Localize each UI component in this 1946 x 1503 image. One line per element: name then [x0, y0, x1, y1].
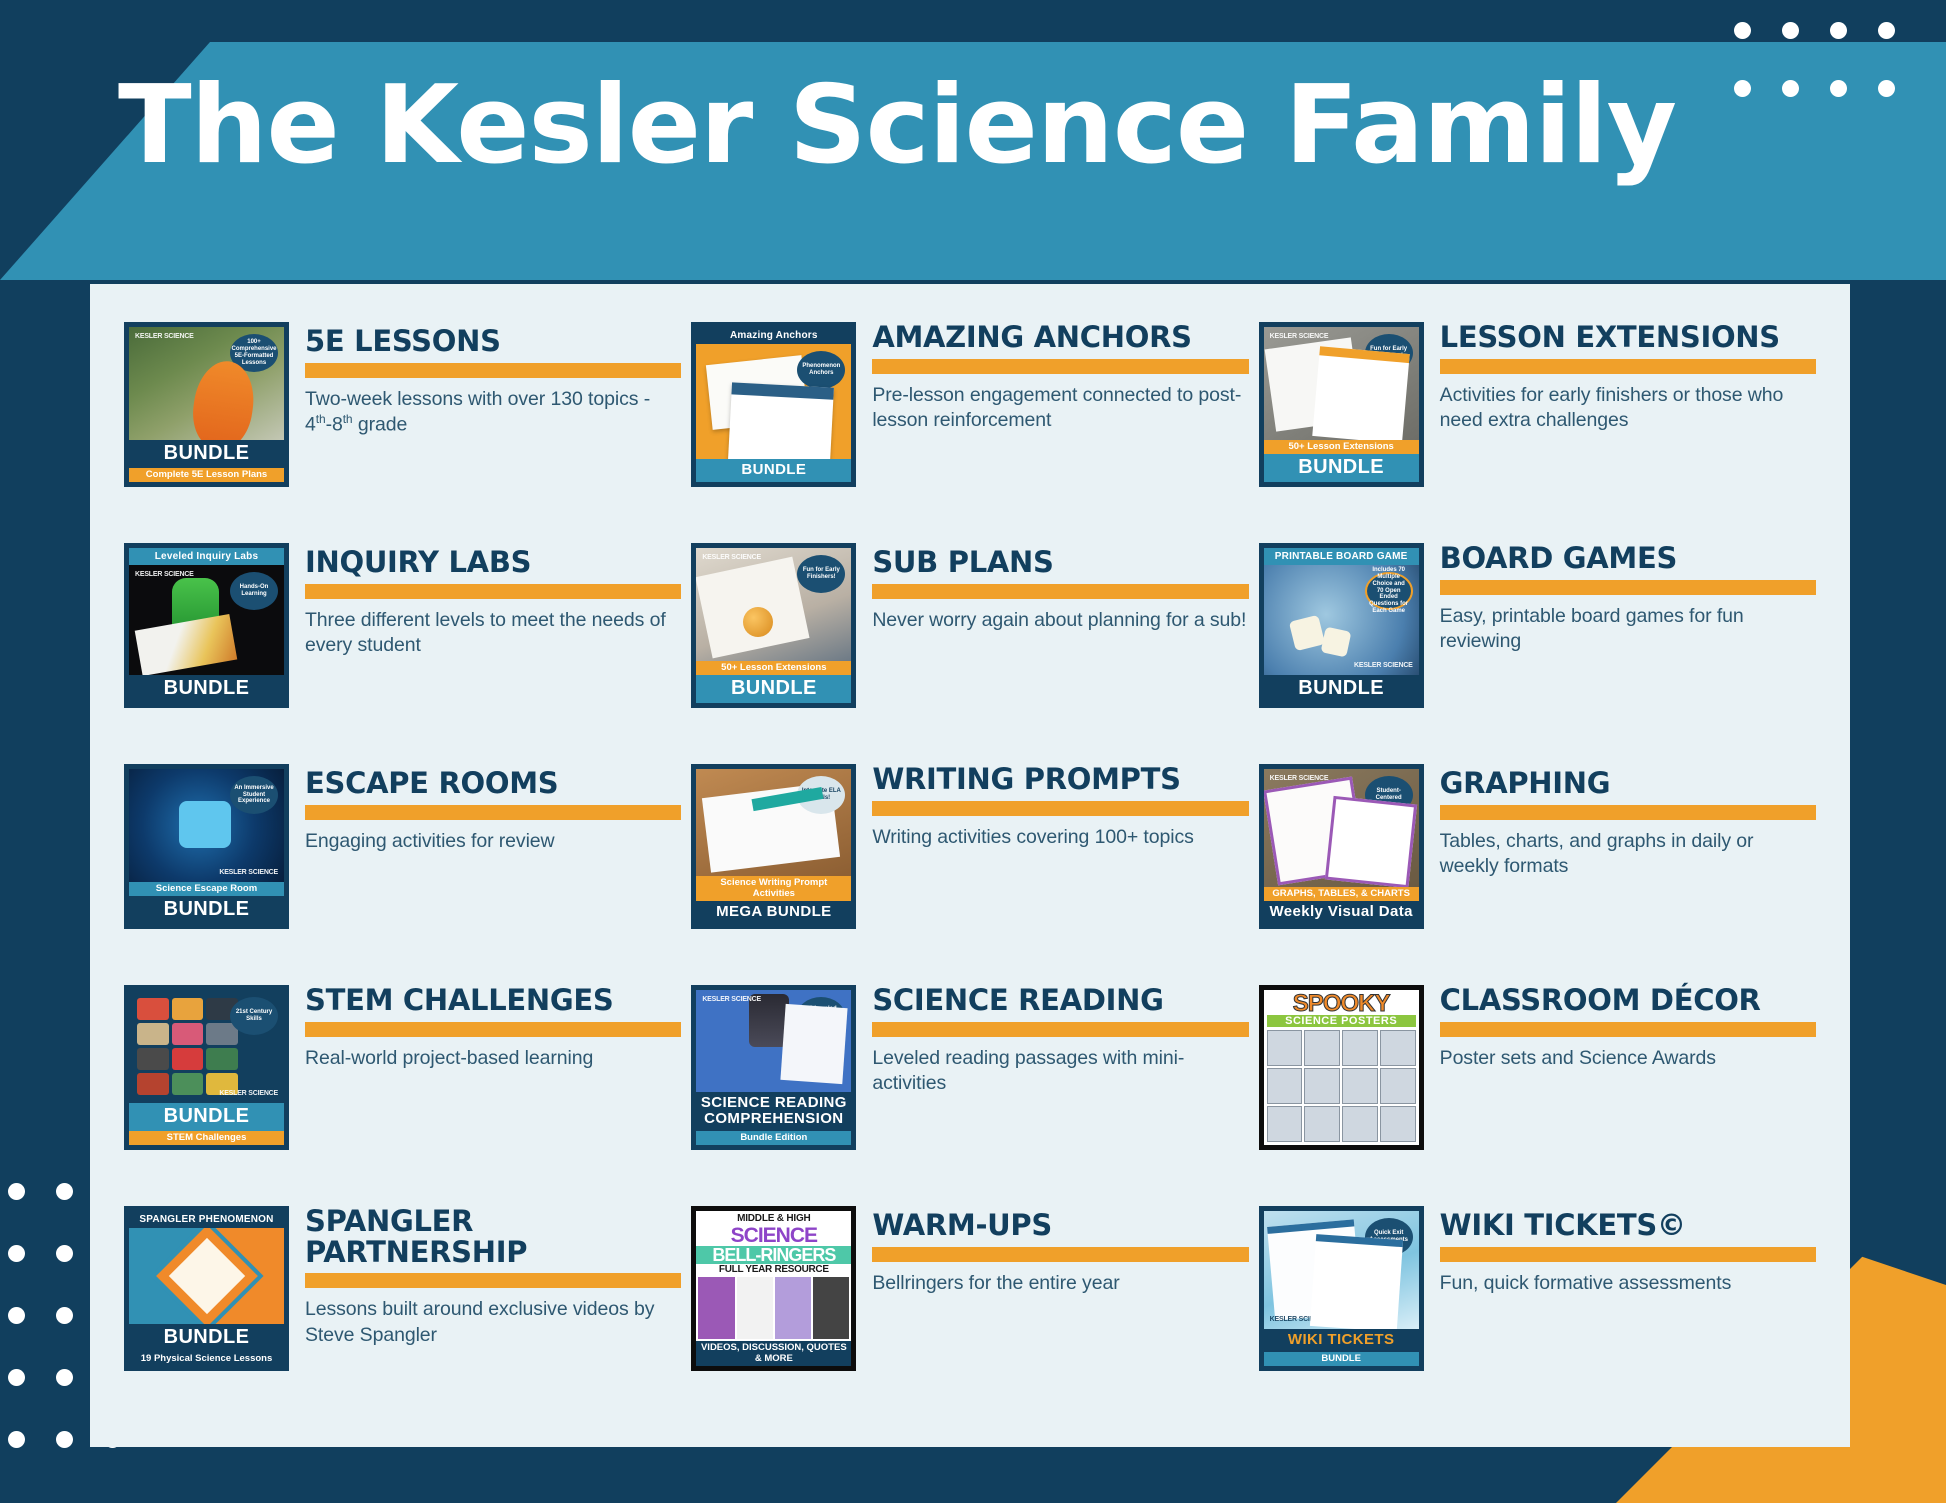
- product-text: SUB PLANS Never worry again about planni…: [872, 543, 1248, 633]
- content-panel: KESLER SCIENCE 100+ Comprehensive 5E-For…: [90, 284, 1850, 1447]
- thumbnail-toptag: Leveled Inquiry Labs: [129, 548, 284, 565]
- product-heading: WARM-UPS: [872, 1210, 1248, 1241]
- product-thumbnail-sub-plans: KESLER SCIENCE Fun for Early Finishers! …: [691, 543, 856, 708]
- poster-cell: [1267, 1068, 1303, 1104]
- product-item-amazing-anchors[interactable]: Amazing Anchors Phenomenon Anchors BUNDL…: [691, 312, 1248, 533]
- orange-rule: [872, 584, 1248, 599]
- poster-cell: [1380, 1030, 1416, 1066]
- product-thumbnail-escape-rooms: An Immersive Student Experience KESLER S…: [124, 764, 289, 929]
- product-item-stem-challenges[interactable]: 21st Century Skills KESLER SCIENCE BUNDL…: [124, 975, 681, 1196]
- product-item-sub-plans[interactable]: KESLER SCIENCE Fun for Early Finishers! …: [691, 533, 1248, 754]
- thumbnail-badge: An Immersive Student Experience: [230, 776, 278, 814]
- thumbnail-art: KESLER SCIENCE Hands-On Learning: [129, 565, 284, 675]
- product-heading: WRITING PROMPTS: [872, 764, 1248, 795]
- product-heading: WIKI TICKETS©: [1440, 1210, 1816, 1241]
- thumbnail-art: KESLER SCIENCE Fun for Early Finishers!: [696, 548, 851, 661]
- poster-thumbnail-grid: [1267, 1027, 1416, 1142]
- product-text: SCIENCE READING Leveled reading passages…: [872, 985, 1248, 1096]
- orange-rule: [1440, 580, 1816, 595]
- product-thumbnail-spangler: SPANGLER PHENOMENON BUNDLE 19 Physical S…: [124, 1206, 289, 1371]
- product-description: Writing activities covering 100+ topics: [872, 825, 1248, 850]
- product-description: Never worry again about planning for a s…: [872, 608, 1248, 633]
- product-thumbnail-board-games: PRINTABLE BOARD GAME Includes 70 Multipl…: [1259, 543, 1424, 708]
- thumbnail-art: KESLER SCIENCE 40 Leveled Articles and P…: [696, 990, 851, 1092]
- orange-rule: [1440, 1022, 1816, 1037]
- thumbnail-art: Integrate ELA Skills!: [696, 769, 851, 876]
- product-thumbnail-stem-challenges: 21st Century Skills KESLER SCIENCE BUNDL…: [124, 985, 289, 1150]
- product-heading: SPANGLER PARTNERSHIP: [305, 1206, 681, 1267]
- thumbnail-bundle-label: MEGA BUNDLE: [696, 901, 851, 924]
- product-text: INQUIRY LABS Three different levels to m…: [305, 543, 681, 658]
- thumbnail-subtag: Science Escape Room: [129, 882, 284, 896]
- product-description: Fun, quick formative assessments: [1440, 1271, 1816, 1296]
- thumbnail-art: Includes 70 Multiple Choice and 70 Open …: [1264, 565, 1419, 675]
- product-text: AMAZING ANCHORS Pre-lesson engagement co…: [872, 322, 1248, 433]
- page-title: The Kesler Science Family: [118, 72, 1676, 180]
- thumbnail-badge: 100+ Comprehensive 5E-Formatted Lessons: [230, 334, 278, 372]
- poster-cell: [1267, 1030, 1303, 1066]
- kesler-logo-icon: KESLER SCIENCE: [1270, 333, 1329, 340]
- product-thumbnail-inquiry-labs: Leveled Inquiry Labs KESLER SCIENCE Hand…: [124, 543, 289, 708]
- thumbnail-badge: 21st Century Skills: [230, 997, 278, 1035]
- stem-icon: [137, 998, 169, 1020]
- product-item-escape-rooms[interactable]: An Immersive Student Experience KESLER S…: [124, 754, 681, 975]
- thumbnail-art: [129, 1228, 284, 1324]
- stem-icon: [172, 1073, 204, 1095]
- poster-cell: [1304, 1030, 1340, 1066]
- product-description: Pre-lesson engagement connected to post-…: [872, 383, 1248, 434]
- product-description: Poster sets and Science Awards: [1440, 1046, 1816, 1071]
- thumbnail-bundle-label: WIKI TICKETS: [1264, 1329, 1419, 1352]
- orange-rule: [305, 1022, 681, 1037]
- product-description: Two-week lessons with over 130 topics - …: [305, 387, 681, 438]
- thumbnail-bundle-label: BUNDLE: [129, 1324, 284, 1352]
- product-item-wiki-tickets[interactable]: Quick Exit Assessments KESLER SCIENCE WI…: [1259, 1196, 1816, 1417]
- thumbnail-subtag: Complete 5E Lesson Plans: [129, 468, 284, 482]
- orange-rule: [1440, 359, 1816, 374]
- kesler-logo-icon: KESLER SCIENCE: [1270, 775, 1329, 782]
- thumbnail-badge: Fun for Early Finishers!: [1365, 334, 1413, 372]
- product-description: Engaging activities for review: [305, 829, 681, 854]
- poster-cell: [1267, 1106, 1303, 1142]
- poster-cell: [1342, 1068, 1378, 1104]
- thumbnail-badge: Student-Centered: [1365, 776, 1413, 814]
- thumbnail-art: Quick Exit Assessments KESLER SCIENCE: [1264, 1211, 1419, 1329]
- thumbnail-art: KESLER SCIENCE Student-Centered: [1264, 769, 1419, 887]
- product-thumbnail-wiki-tickets: Quick Exit Assessments KESLER SCIENCE WI…: [1259, 1206, 1424, 1371]
- thumbnail-subtag: 50+ Lesson Extensions: [1264, 440, 1419, 454]
- thumbnail-bundle-label: BUNDLE: [1264, 675, 1419, 703]
- product-item-classroom-decor[interactable]: SPOOKY SCIENCE POSTERS CLASSROOM: [1259, 975, 1816, 1196]
- desc-sup-2: th: [343, 412, 353, 426]
- thumbnail-art: An Immersive Student Experience KESLER S…: [129, 769, 284, 882]
- product-thumbnail-graphing: KESLER SCIENCE Student-Centered GRAPHS, …: [1259, 764, 1424, 929]
- thumbnail-toptag: Amazing Anchors: [696, 327, 851, 344]
- product-thumbnail-classroom-decor: SPOOKY SCIENCE POSTERS: [1259, 985, 1424, 1150]
- desc-sup-1: th: [316, 412, 326, 426]
- poster-cell: [1342, 1106, 1378, 1142]
- thumbnail-toptag: PRINTABLE BOARD GAME: [1264, 548, 1419, 565]
- product-heading: STEM CHALLENGES: [305, 985, 681, 1016]
- product-item-5e-lessons[interactable]: KESLER SCIENCE 100+ Comprehensive 5E-For…: [124, 312, 681, 533]
- product-thumbnail-5e-lessons: KESLER SCIENCE 100+ Comprehensive 5E-For…: [124, 322, 289, 487]
- poster-cell: [1380, 1068, 1416, 1104]
- product-text: GRAPHING Tables, charts, and graphs in d…: [1440, 764, 1816, 879]
- thumbnail-bundle-label: BUNDLE: [129, 1103, 284, 1131]
- thumbnail-art: SPOOKY SCIENCE POSTERS: [1264, 990, 1419, 1145]
- stem-icon: [137, 1023, 169, 1045]
- decorative-dots-top-right: [1734, 22, 1926, 138]
- kesler-logo-icon: KESLER SCIENCE: [219, 869, 278, 876]
- thumbnail-subtag: BUNDLE: [1264, 1352, 1419, 1366]
- product-heading: AMAZING ANCHORS: [872, 322, 1248, 353]
- orange-rule: [872, 1022, 1248, 1037]
- product-description: Leveled reading passages with mini-activ…: [872, 1046, 1248, 1097]
- thumbnail-bundle-label: Weekly Visual Data: [1264, 901, 1419, 924]
- product-heading: SCIENCE READING: [872, 985, 1248, 1016]
- product-thumbnail-writing-prompts: Integrate ELA Skills! Science Writing Pr…: [691, 764, 856, 929]
- thumbnail-art: KESLER SCIENCE Fun for Early Finishers!: [1264, 327, 1419, 440]
- cover-line-3: BELL-RINGERS: [696, 1246, 851, 1264]
- kesler-logo-icon: KESLER SCIENCE: [1354, 662, 1413, 669]
- product-item-board-games[interactable]: PRINTABLE BOARD GAME Includes 70 Multipl…: [1259, 533, 1816, 754]
- strip-cell: [737, 1277, 773, 1339]
- thumbnail-badge: Quick Exit Assessments: [1365, 1218, 1413, 1256]
- product-heading: INQUIRY LABS: [305, 547, 681, 578]
- thumbnail-subtag: 50+ Lesson Extensions: [696, 661, 851, 675]
- product-description: Three different levels to meet the needs…: [305, 608, 681, 659]
- product-item-spangler-partnership[interactable]: SPANGLER PHENOMENON BUNDLE 19 Physical S…: [124, 1196, 681, 1417]
- thumbnail-badge: Phenomenon Anchors: [797, 351, 845, 389]
- thumbnail-footer: VIDEOS, DISCUSSION, QUOTES & MORE: [696, 1341, 851, 1366]
- cover-thumbnail-strip: [696, 1275, 851, 1341]
- stem-icon: [137, 1073, 169, 1095]
- product-text: STEM CHALLENGES Real-world project-based…: [305, 985, 681, 1071]
- orange-rule: [872, 1247, 1248, 1262]
- product-item-lesson-extensions[interactable]: KESLER SCIENCE Fun for Early Finishers! …: [1259, 312, 1816, 533]
- cover-line-2: SCIENCE: [696, 1226, 851, 1246]
- product-text: SPANGLER PARTNERSHIP Lessons built aroun…: [305, 1206, 681, 1348]
- poster-cell: [1380, 1106, 1416, 1142]
- product-item-graphing[interactable]: KESLER SCIENCE Student-Centered GRAPHS, …: [1259, 754, 1816, 975]
- product-thumbnail-science-reading: KESLER SCIENCE 40 Leveled Articles and P…: [691, 985, 856, 1150]
- product-heading: SUB PLANS: [872, 547, 1248, 578]
- product-heading: BOARD GAMES: [1440, 543, 1816, 574]
- stem-icon: [172, 1048, 204, 1070]
- thumbnail-badge: Hands-On Learning: [230, 572, 278, 610]
- kesler-logo-icon: KESLER SCIENCE: [1270, 1316, 1329, 1323]
- thumbnail-badge: Includes 70 Multiple Choice and 70 Open …: [1365, 572, 1413, 610]
- thumbnail-subtag: Science Writing Prompt Activities: [696, 876, 851, 901]
- product-thumbnail-lesson-extensions: KESLER SCIENCE Fun for Early Finishers! …: [1259, 322, 1424, 487]
- thumbnail-subtag: Bundle Edition: [696, 1131, 851, 1145]
- kesler-logo-icon: KESLER SCIENCE: [135, 333, 194, 340]
- product-heading: 5E LESSONS: [305, 326, 681, 357]
- thumbnail-subtag: GRAPHS, TABLES, & CHARTS: [1264, 887, 1419, 901]
- product-description: Real-world project-based learning: [305, 1046, 681, 1071]
- desc-part-2: -8: [326, 414, 343, 436]
- product-thumbnail-amazing-anchors: Amazing Anchors Phenomenon Anchors BUNDL…: [691, 322, 856, 487]
- thumbnail-bundle-label: BUNDLE: [129, 896, 284, 924]
- orange-rule: [1440, 1247, 1816, 1262]
- product-heading: LESSON EXTENSIONS: [1440, 322, 1816, 353]
- kesler-logo-icon: KESLER SCIENCE: [219, 1090, 278, 1097]
- thumbnail-art: 21st Century Skills KESLER SCIENCE: [129, 990, 284, 1103]
- product-heading: CLASSROOM DÉCOR: [1440, 985, 1816, 1016]
- poster-cell: [1342, 1030, 1378, 1066]
- thumbnail-bundle-label: BUNDLE: [129, 675, 284, 703]
- thumbnail-subtag: 19 Physical Science Lessons: [129, 1352, 284, 1366]
- kesler-logo-icon: KESLER SCIENCE: [135, 571, 194, 578]
- thumbnail-bundle-label: BUNDLE: [696, 459, 851, 482]
- product-description: Easy, printable board games for fun revi…: [1440, 604, 1816, 655]
- product-text: ESCAPE ROOMS Engaging activities for rev…: [305, 764, 681, 854]
- stem-icon: [172, 1023, 204, 1045]
- product-grid: KESLER SCIENCE 100+ Comprehensive 5E-For…: [90, 284, 1850, 1447]
- desc-part-3: grade: [353, 414, 408, 436]
- product-item-writing-prompts[interactable]: Integrate ELA Skills! Science Writing Pr…: [691, 754, 1248, 975]
- product-text: CLASSROOM DÉCOR Poster sets and Science …: [1440, 985, 1816, 1071]
- thumbnail-bundle-label: SCIENCE READING COMPREHENSION: [696, 1092, 851, 1131]
- strip-cell: [698, 1277, 734, 1339]
- stem-icon: [206, 1048, 238, 1070]
- orange-rule: [872, 801, 1248, 816]
- product-heading: ESCAPE ROOMS: [305, 768, 681, 799]
- kesler-logo-icon: KESLER SCIENCE: [702, 554, 761, 561]
- thumbnail-badge: 40 Leveled Articles and Projects: [797, 997, 845, 1035]
- product-text: WARM-UPS Bellringers for the entire year: [872, 1206, 1248, 1296]
- orange-rule: [305, 584, 681, 599]
- product-thumbnail-warm-ups: MIDDLE & HIGH SCIENCE BELL-RINGERS FULL …: [691, 1206, 856, 1371]
- product-description: Bellringers for the entire year: [872, 1271, 1248, 1296]
- product-description: Tables, charts, and graphs in daily or w…: [1440, 829, 1816, 880]
- poster-cell: [1304, 1106, 1340, 1142]
- kesler-logo-icon: KESLER SCIENCE: [702, 996, 761, 1003]
- thumbnail-art: Phenomenon Anchors: [696, 344, 851, 459]
- thumbnail-subtag: STEM Challenges: [129, 1131, 284, 1145]
- cover-line-4: FULL YEAR RESOURCE: [696, 1264, 851, 1275]
- strip-cell: [775, 1277, 811, 1339]
- orange-rule: [305, 805, 681, 820]
- orange-rule: [1440, 805, 1816, 820]
- thumbnail-toptag: SPANGLER PHENOMENON: [129, 1211, 284, 1228]
- thumbnail-badge: Fun for Early Finishers!: [797, 555, 845, 593]
- product-item-science-reading[interactable]: KESLER SCIENCE 40 Leveled Articles and P…: [691, 975, 1248, 1196]
- product-text: 5E LESSONS Two-week lessons with over 13…: [305, 322, 681, 438]
- product-item-warm-ups[interactable]: MIDDLE & HIGH SCIENCE BELL-RINGERS FULL …: [691, 1196, 1248, 1417]
- orange-rule: [872, 359, 1248, 374]
- thumbnail-bundle-label: BUNDLE: [1264, 454, 1419, 482]
- thumbnail-badge: Integrate ELA Skills!: [797, 776, 845, 814]
- product-text: LESSON EXTENSIONS Activities for early f…: [1440, 322, 1816, 433]
- product-text: WRITING PROMPTS Writing activities cover…: [872, 764, 1248, 850]
- stem-icon: [172, 998, 204, 1020]
- thumbnail-art: KESLER SCIENCE 100+ Comprehensive 5E-For…: [129, 327, 284, 440]
- thumbnail-bundle-label: BUNDLE: [696, 675, 851, 703]
- poster-title-line-2: SCIENCE POSTERS: [1267, 1015, 1416, 1027]
- product-description: Lessons built around exclusive videos by…: [305, 1297, 681, 1348]
- poster-cell: [1304, 1068, 1340, 1104]
- product-text: BOARD GAMES Easy, printable board games …: [1440, 543, 1816, 654]
- strip-cell: [813, 1277, 849, 1339]
- product-text: WIKI TICKETS© Fun, quick formative asses…: [1440, 1206, 1816, 1296]
- orange-rule: [305, 363, 681, 378]
- poster: The Kesler Science Family KESLER SCIENCE…: [0, 0, 1946, 1503]
- product-description: Activities for early finishers or those …: [1440, 383, 1816, 434]
- product-item-inquiry-labs[interactable]: Leveled Inquiry Labs KESLER SCIENCE Hand…: [124, 533, 681, 754]
- product-heading: GRAPHING: [1440, 768, 1816, 799]
- thumbnail-bundle-label: BUNDLE: [129, 440, 284, 468]
- stem-icon: [137, 1048, 169, 1070]
- thumbnail-art: MIDDLE & HIGH SCIENCE BELL-RINGERS FULL …: [696, 1211, 851, 1341]
- stem-icon-grid: [137, 998, 238, 1095]
- orange-rule: [305, 1273, 681, 1288]
- poster-title-line-1: SPOOKY: [1267, 993, 1416, 1015]
